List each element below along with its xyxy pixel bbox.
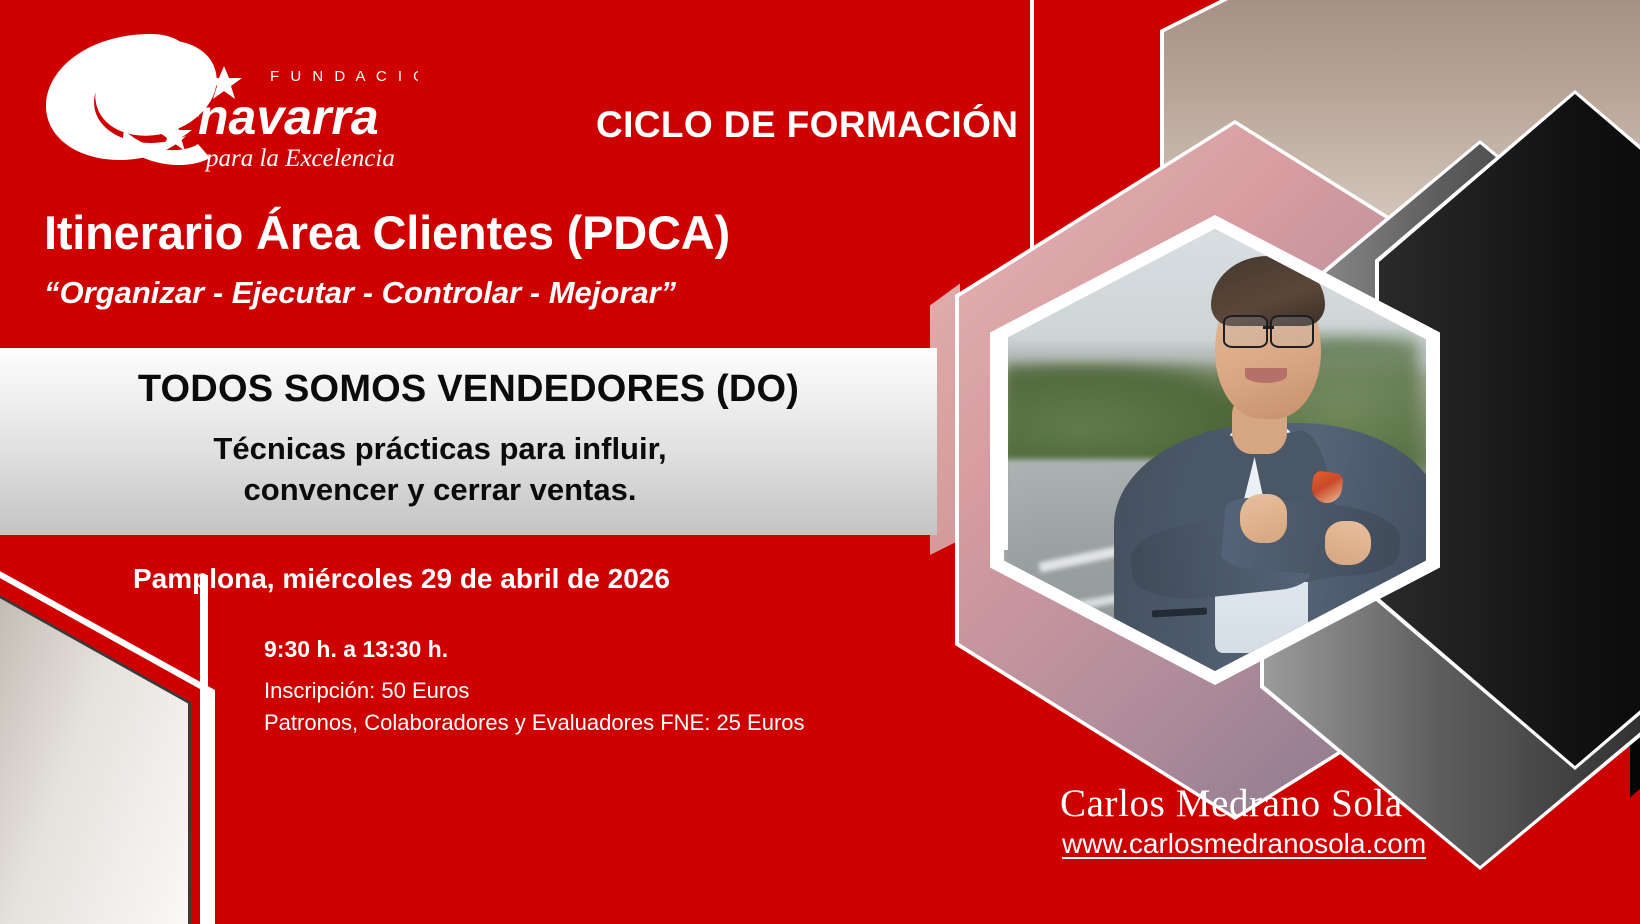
bottom-left-white-line: [200, 575, 208, 924]
event-time: 9:30 h. a 13:30 h.: [264, 636, 448, 663]
logo-mark-icon: F U N D A C I Ó N navarra para la Excele…: [38, 26, 418, 176]
banner-subheading-line-1: Técnicas prácticas para influir,: [213, 431, 666, 466]
page-title: Itinerario Área Clientes (PDCA): [44, 205, 730, 260]
eyebrow-ciclo-de-formacion: CICLO DE FORMACIÓN: [596, 104, 1018, 146]
banner-subheading: Técnicas prácticas para influir, convenc…: [0, 428, 880, 510]
banner-white-divider: [1003, 330, 1008, 550]
training-course-poster: F U N D A C I Ó N navarra para la Excele…: [0, 0, 1640, 924]
event-place-date: Pamplona, miércoles 29 de abril de 2026: [133, 563, 670, 595]
course-title-banner: TODOS SOMOS VENDEDORES (DO) Técnicas prá…: [0, 348, 937, 535]
banner-subheading-line-2: convencer y cerrar ventas.: [244, 472, 637, 507]
price-members: Patronos, Colaboradores y Evaluadores FN…: [264, 710, 805, 736]
banner-heading: TODOS SOMOS VENDEDORES (DO): [0, 368, 937, 411]
speaker-portrait-hexagon: [990, 215, 1440, 685]
logo-name-text: navarra: [198, 89, 379, 145]
page-subtitle: “Organizar - Ejecutar - Controlar - Mejo…: [44, 275, 676, 311]
price-general: Inscripción: 50 Euros: [264, 678, 469, 704]
logo-kicker-text: F U N D A C I Ó N: [270, 68, 418, 85]
bottom-left-hexagon: [0, 560, 215, 924]
speaker-website-link[interactable]: www.carlosmedranosola.com: [1062, 828, 1426, 860]
logo-tagline-text: para la Excelencia: [204, 145, 395, 172]
fundacion-navarra-logo: F U N D A C I Ó N navarra para la Excele…: [38, 26, 418, 176]
speaker-name: Carlos Medrano Sola: [1060, 781, 1403, 826]
